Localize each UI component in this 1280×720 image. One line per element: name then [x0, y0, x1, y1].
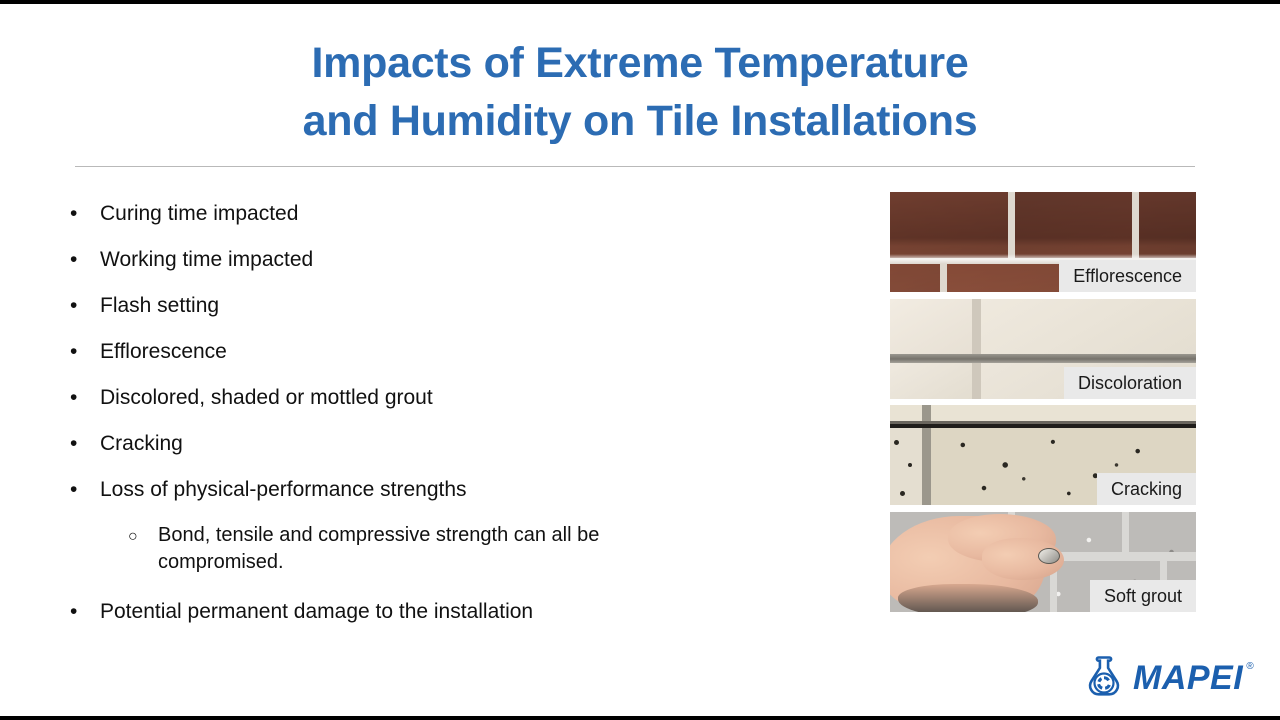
bullet-marker-icon: • [70, 338, 100, 366]
list-item: • Efflorescence [70, 338, 860, 366]
list-item-label: Working time impacted [100, 246, 313, 274]
mapei-logo: MAPEI ® [1083, 654, 1243, 703]
photo-caption: Cracking [1097, 473, 1196, 505]
photo-efflorescence: Efflorescence [890, 192, 1196, 292]
photo-soft-grout: Soft grout [890, 512, 1196, 612]
list-item-label: Discolored, shaded or mottled grout [100, 384, 433, 412]
list-item: • Loss of physical-performance strengths [70, 476, 860, 504]
list-item-label: Flash setting [100, 292, 219, 320]
photo-cracking: Cracking [890, 405, 1196, 505]
list-item-label: Curing time impacted [100, 200, 298, 228]
title-line-2: and Humidity on Tile Installations [0, 92, 1280, 150]
bullet-marker-icon: • [70, 476, 100, 504]
mapei-wordmark: MAPEI ® [1133, 659, 1243, 698]
list-item: • Potential permanent damage to the inst… [70, 598, 860, 626]
bullet-list: • Curing time impacted • Working time im… [70, 200, 860, 644]
list-item: • Discolored, shaded or mottled grout [70, 384, 860, 412]
list-item: • Curing time impacted [70, 200, 860, 228]
bullet-marker-icon: • [70, 598, 100, 626]
list-item-label: Cracking [100, 430, 183, 458]
title-line-1: Impacts of Extreme Temperature [0, 34, 1280, 92]
mapei-wordmark-text: MAPEI [1133, 659, 1243, 697]
sub-list-item: ○ Bond, tensile and compressive strength… [128, 522, 860, 576]
mapei-flask-icon [1083, 654, 1125, 703]
sub-list-item-label: Bond, tensile and compressive strength c… [158, 522, 638, 576]
page-title: Impacts of Extreme Temperature and Humid… [0, 34, 1280, 150]
bullet-marker-icon: • [70, 384, 100, 412]
slide-canvas: Impacts of Extreme Temperature and Humid… [0, 4, 1280, 716]
list-item-label: Loss of physical-performance strengths [100, 476, 467, 504]
list-item: • Cracking [70, 430, 860, 458]
photo-discoloration: Discoloration [890, 299, 1196, 399]
list-item: • Working time impacted [70, 246, 860, 274]
photo-caption: Soft grout [1090, 580, 1196, 612]
registered-trademark-symbol: ® [1246, 661, 1254, 672]
bullet-marker-icon: • [70, 292, 100, 320]
bullet-marker-icon: • [70, 430, 100, 458]
list-item-label: Potential permanent damage to the instal… [100, 598, 533, 626]
photo-caption: Efflorescence [1059, 260, 1196, 292]
sub-bullet-marker-icon: ○ [128, 522, 158, 552]
letterbox-bar-bottom [0, 716, 1280, 720]
bullet-marker-icon: • [70, 200, 100, 228]
list-item: • Flash setting [70, 292, 860, 320]
title-divider [75, 166, 1195, 167]
bullet-marker-icon: • [70, 246, 100, 274]
list-item-label: Efflorescence [100, 338, 227, 366]
photo-caption: Discoloration [1064, 367, 1196, 399]
